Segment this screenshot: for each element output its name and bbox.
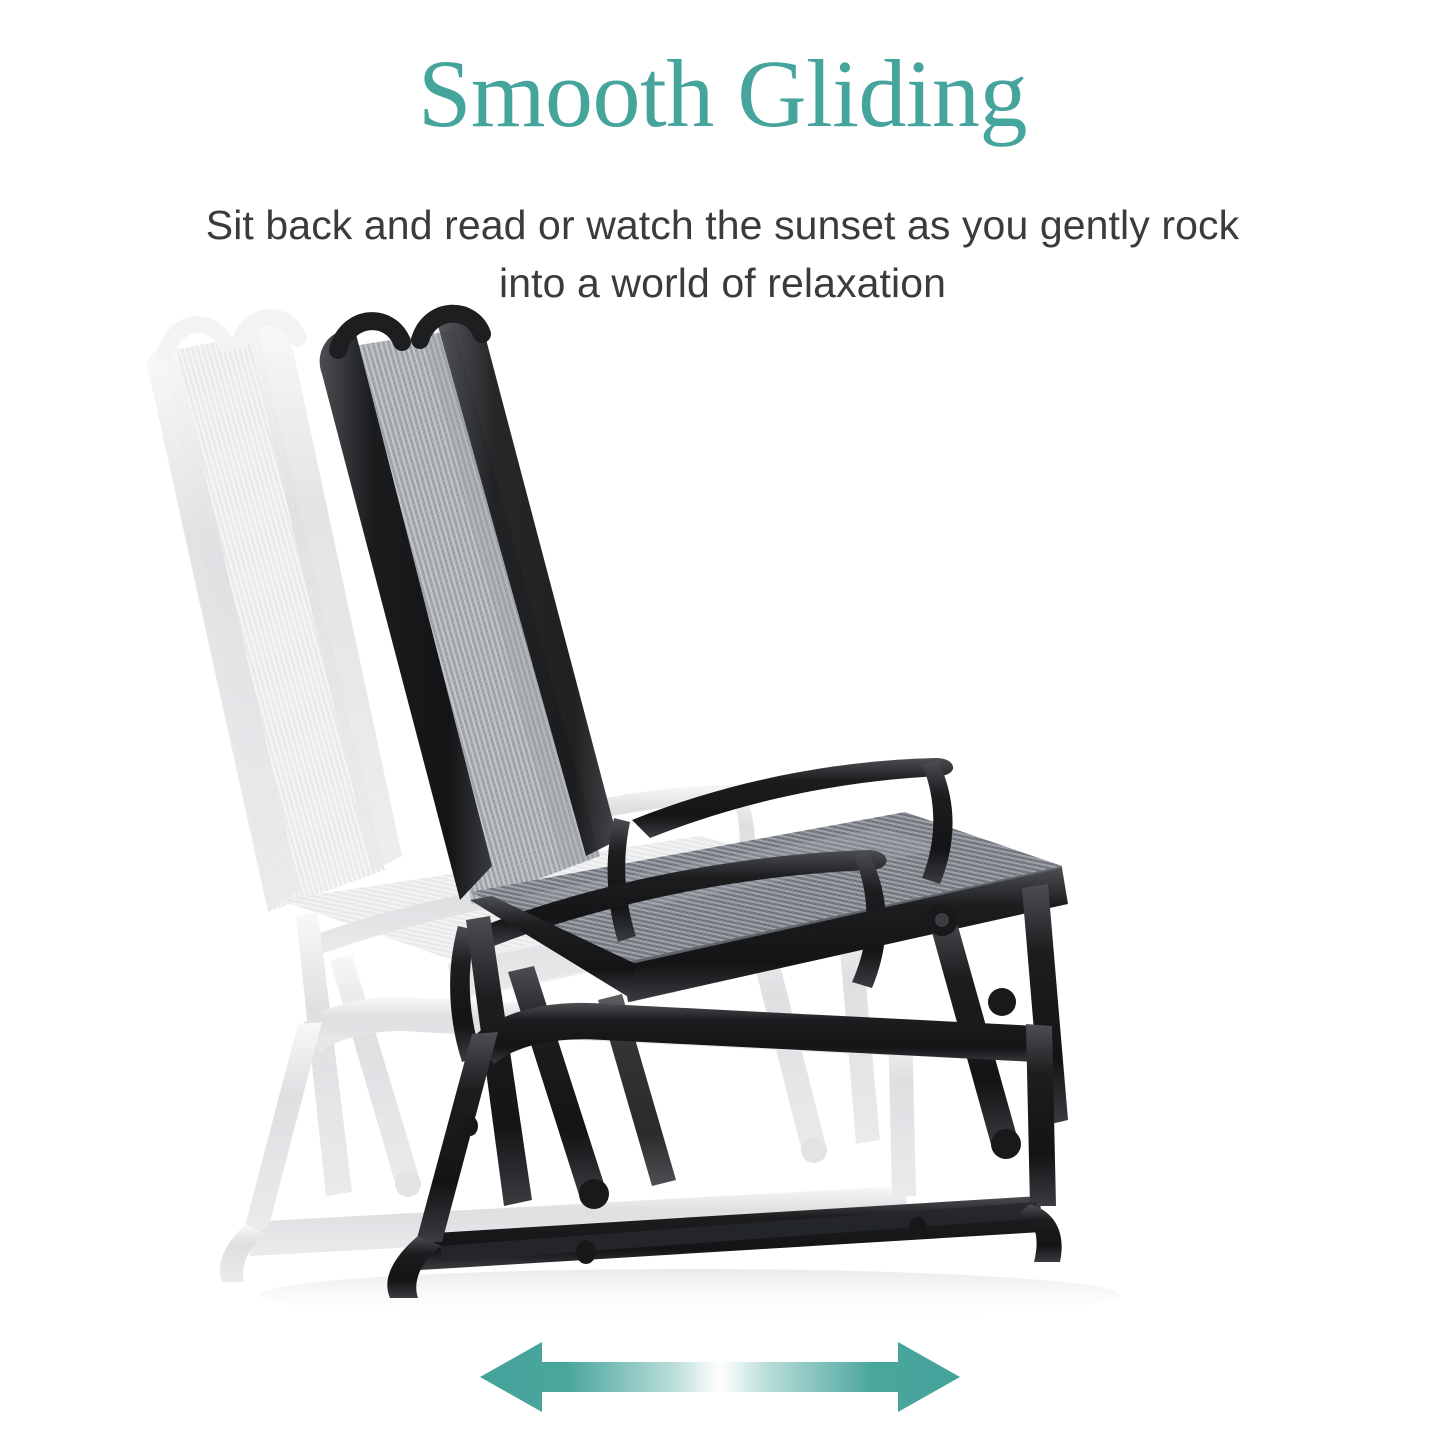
rail-bolt-a: [576, 1240, 596, 1264]
ghost-base-upright-rear: [244, 1022, 322, 1230]
ghost-pivot-bolt-front: [801, 1137, 827, 1163]
page-title: Smooth Gliding: [0, 46, 1445, 142]
glide-direction-arrow: [480, 1338, 960, 1416]
base-upright-front: [1026, 1024, 1056, 1206]
product-image: [0, 300, 1445, 1320]
product-feature-card: Smooth Gliding Sit back and read or watc…: [0, 0, 1445, 1445]
subtitle: Sit back and read or watch the sunset as…: [0, 196, 1445, 312]
rail-bolt-c: [462, 1116, 478, 1136]
pivot-bolt-linkage-rear: [579, 1179, 609, 1209]
ghost-pivot-bolt-rear: [395, 1171, 421, 1197]
arrow-shape: [480, 1342, 960, 1412]
rail-bolt-b: [909, 1217, 927, 1239]
subtitle-line-1: Sit back and read or watch the sunset as…: [0, 196, 1445, 254]
pivot-bolt-linkage-front: [991, 1129, 1021, 1159]
pivot-bolt-base-front: [988, 988, 1016, 1016]
pivot-bolt-seat-front-head: [935, 913, 949, 927]
main-chair: [320, 308, 1068, 1298]
